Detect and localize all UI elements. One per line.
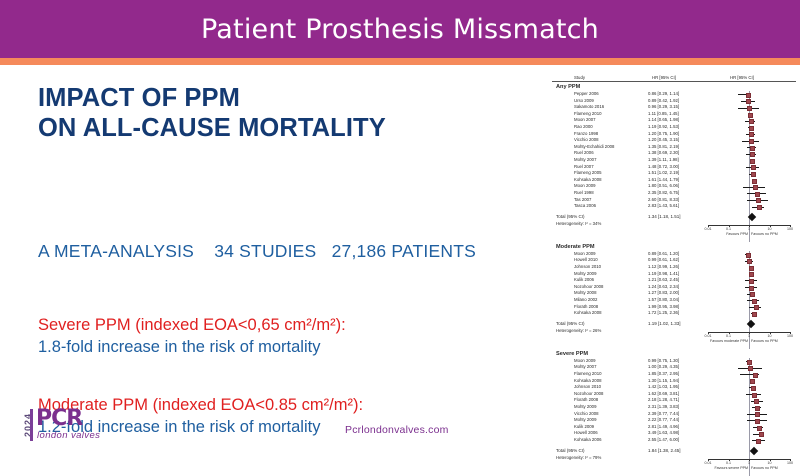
forest-row-study: Mohty 2009 — [574, 271, 596, 276]
forest-row-hr: 1.21 [0.63, 2.45] — [648, 277, 679, 282]
forest-row: Kulik 20092.81 [1.49, 4.96] — [552, 424, 796, 431]
forest-row-hr: 1.39 [1.11, 1.98] — [648, 157, 679, 162]
axis-favours-right-label: Favours no PPM — [751, 466, 778, 470]
forest-row-study: Kohsaka 2008 — [574, 310, 601, 315]
forest-row-hr: 1.27 [0.83, 2.00] — [648, 290, 679, 295]
severe-ppm-body: 1.8-fold increase in the risk of mortali… — [38, 336, 538, 358]
forest-row: Nozohoor 20081.24 [0.63, 2.34] — [552, 284, 796, 291]
forest-row-study: Mohty 2009 — [574, 417, 596, 422]
forest-row-hr: 1.72 [1.25, 2.36] — [648, 310, 679, 315]
forest-row-study: Howell 2010 — [574, 257, 598, 262]
forest-row-study: Mohty-Echahidi 2008 — [574, 144, 614, 149]
forest-total-label: Total (95% CI) — [556, 214, 585, 219]
forest-row-study: Pepper 2006 — [574, 91, 599, 96]
forest-row: Tas 20072.60 [0.81, 8.33] — [552, 197, 796, 204]
forest-row-hr: 1.57 [0.80, 3.04] — [648, 297, 679, 302]
forest-row: Rao 20001.19 [0.92, 1.53] — [552, 124, 796, 131]
forest-row-study: Mohty 2009 — [574, 404, 596, 409]
axis-favours-left-label: Favours moderate PPM — [710, 339, 748, 343]
axis-favours-right-label: Favours no PPM — [751, 339, 778, 343]
forest-row: Mohty-Echahidi 20081.35 [0.81, 2.19] — [552, 144, 796, 151]
forest-row: Flameng 20101.85 [0.37, 2.95] — [552, 371, 796, 378]
forest-row: Johnson 20101.12 [0.99, 1.26] — [552, 264, 796, 271]
logo-divider — [30, 409, 33, 441]
axis-favours-left-label: Favours PPM — [726, 232, 748, 236]
forest-plot: Study HR [95% CI] HR [95% CI] Any PPM0.0… — [552, 70, 796, 448]
forest-row-study: Tas 2007 — [574, 197, 591, 202]
forest-row-hr: 1.51 [1.02, 2.19] — [648, 170, 679, 175]
forest-row-study: Johnson 2010 — [574, 384, 601, 389]
axis-favours-left-label: Favours severe PPM — [714, 466, 748, 470]
forest-row-study: Flameng 2010 — [574, 111, 601, 116]
forest-row-hr: 2.60 [0.81, 8.33] — [648, 197, 679, 202]
forest-row-study: Florath 2008 — [574, 304, 598, 309]
forest-row: Moon 20071.14 [0.65, 1.98] — [552, 117, 796, 124]
slide: Patient Prosthesis Missmatch IMPACT OF P… — [0, 0, 800, 450]
forest-plot-header: Study HR [95% CI] HR [95% CI] — [552, 70, 796, 82]
forest-row: Urso 20090.89 [0.42, 1.92] — [552, 98, 796, 105]
forest-row-hr: 1.38 [0.69, 2.30] — [648, 150, 679, 155]
forest-total-row: Total (95% CI)1.19 [1.02, 1.33] — [552, 321, 796, 329]
forest-row: Franzo 19981.20 [0.75, 1.90] — [552, 131, 796, 138]
forest-total-value: 1.19 [1.02, 1.33] — [648, 321, 681, 326]
forest-row: Florath 20082.18 [1.28, 4.71] — [552, 397, 796, 404]
forest-row: Ruel 20071.48 [0.72, 3.00] — [552, 164, 796, 171]
forest-row: Flameng 20101.11 [0.85, 1.45] — [552, 111, 796, 118]
severe-ppm-block: Severe PPM (indexed EOA<0,65 cm²/m²): 1.… — [38, 314, 538, 358]
column-header-hr-text: HR [95% CI] — [652, 75, 676, 80]
forest-row: Flameng 20051.51 [1.02, 2.19] — [552, 170, 796, 177]
forest-row-hr: 1.30 [1.15, 1.94] — [648, 378, 679, 383]
forest-group: Any PPM0.010.1110100Favours PPMFavours n… — [552, 84, 796, 242]
forest-row-hr: 1.20 [0.45, 3.15] — [648, 137, 679, 142]
forest-row-hr: 3.49 [1.63, 4.98] — [648, 430, 679, 435]
forest-row-hr: 1.24 [0.63, 2.34] — [648, 284, 679, 289]
forest-row-study: Mohty 2007 — [574, 364, 596, 369]
forest-row: Kohsaka 20081.72 [1.25, 2.36] — [552, 310, 796, 317]
forest-row-study: Howell 2006 — [574, 430, 598, 435]
forest-row-hr: 2.81 [1.49, 4.96] — [648, 424, 679, 429]
forest-row-hr: 0.99 [0.61, 1.62] — [648, 257, 679, 262]
forest-row-study: Urso 2009 — [574, 98, 594, 103]
forest-group-label: Severe PPM — [556, 351, 796, 357]
subtitle: A META-ANALYSIS 34 STUDIES 27,186 PATIEN… — [38, 241, 538, 262]
forest-row: Milano 20021.57 [0.80, 3.04] — [552, 297, 796, 304]
forest-row-study: Ruel 2007 — [574, 164, 594, 169]
forest-row: Florath 20081.99 [0.95, 3.98] — [552, 304, 796, 311]
forest-row-hr: 1.85 [0.37, 2.95] — [648, 371, 679, 376]
forest-row-hr: 1.42 [1.03, 1.95] — [648, 384, 679, 389]
forest-total-value: 1.34 [1.18, 1.51] — [648, 214, 681, 219]
forest-row-study: Ruel 2006 — [574, 150, 594, 155]
forest-row-study: Moon 2009 — [574, 358, 596, 363]
forest-row-study: Mohty 2008 — [574, 290, 596, 295]
forest-plot-groups: Any PPM0.010.1110100Favours PPMFavours n… — [552, 84, 796, 476]
forest-row-hr: 1.48 [0.72, 3.00] — [648, 164, 679, 169]
forest-row-hr: 2.39 [0.77, 7.44] — [648, 411, 679, 416]
forest-row-study: Sakamoto 2016 — [574, 104, 604, 109]
forest-row-hr: 2.35 [0.82, 6.75] — [648, 190, 679, 195]
forest-heterogeneity-row: Heterogeneity: I² = 34% — [552, 221, 796, 228]
forest-row-hr: 0.89 [0.42, 1.92] — [648, 98, 679, 103]
column-header-study: Study — [574, 75, 585, 80]
forest-heterogeneity-label: Heterogeneity: I² = 34% — [556, 221, 601, 226]
forest-row-hr: 1.11 [0.85, 1.45] — [648, 111, 679, 116]
forest-row: Moon 20091.80 [0.51, 6.06] — [552, 183, 796, 190]
forest-row-study: Kohsaka 2006 — [574, 437, 601, 442]
forest-row-study: Moon 2009 — [574, 183, 596, 188]
forest-row-study: Kulik 2009 — [574, 424, 594, 429]
forest-group-rows: 0.010.1110100Favours moderate PPMFavours… — [552, 251, 796, 349]
forest-row: Vicchio 20081.20 [0.45, 3.15] — [552, 137, 796, 144]
pcr-london-valves-logo: 2024 PCR london valves — [14, 406, 154, 444]
forest-row-study: Flameng 2005 — [574, 170, 601, 175]
forest-row-study: Milano 2002 — [574, 297, 597, 302]
forest-total-label: Total (95% CI) — [556, 321, 585, 326]
footer-url: Pcrlondonvalves.com — [345, 424, 449, 436]
forest-row-hr: 1.19 [0.98, 1.41] — [648, 271, 679, 276]
forest-row: Mohty 20091.19 [0.98, 1.41] — [552, 271, 796, 278]
forest-row: Moon 20090.99 [0.75, 1.30] — [552, 358, 796, 365]
logo-subtitle: london valves — [37, 430, 100, 441]
forest-row-study: Nozohoor 2008 — [574, 391, 603, 396]
forest-row: Ruel 19982.35 [0.82, 6.75] — [552, 190, 796, 197]
forest-row-study: Kohsaka 2008 — [574, 177, 601, 182]
forest-row-hr: 1.00 [0.29, 4.35] — [648, 364, 679, 369]
forest-total-row: Total (95% CI)1.34 [1.18, 1.51] — [552, 214, 796, 222]
forest-row-study: Franzo 1998 — [574, 131, 598, 136]
forest-row: Mohty 20071.00 [0.29, 4.35] — [552, 364, 796, 371]
forest-row: Kohsaka 20081.30 [1.15, 1.94] — [552, 378, 796, 385]
forest-row: Mohty 20071.39 [1.11, 1.98] — [552, 157, 796, 164]
forest-total-value: 1.84 [1.38, 2.45] — [648, 448, 681, 453]
forest-row: Kohsaka 20062.55 [1.47, 6.00] — [552, 437, 796, 444]
forest-row-study: Mohty 2007 — [574, 157, 596, 162]
forest-heterogeneity-row: Heterogeneity: I² = 26% — [552, 328, 796, 335]
forest-row-hr: 1.14 [0.65, 1.98] — [648, 117, 679, 122]
content-left: IMPACT OF PPM ON ALL-CAUSE MORTALITY A M… — [0, 65, 545, 450]
forest-row-study: Moon 2007 — [574, 117, 596, 122]
forest-row: Mohty 20092.22 [0.77, 7.44] — [552, 417, 796, 424]
forest-row-hr: 1.20 [0.75, 1.90] — [648, 131, 679, 136]
forest-row: Nozohoor 20081.62 [0.69, 3.81] — [552, 391, 796, 398]
headline-line-1: IMPACT OF PPM — [38, 84, 240, 112]
forest-row: Mohty 20092.31 [1.39, 3.83] — [552, 404, 796, 411]
headline: IMPACT OF PPM ON ALL-CAUSE MORTALITY — [38, 83, 538, 143]
forest-row-hr: 2.31 [1.39, 3.83] — [648, 404, 679, 409]
forest-row-study: Vicchio 2008 — [574, 411, 599, 416]
forest-row: Kulik 20061.21 [0.63, 2.45] — [552, 277, 796, 284]
forest-row-hr: 1.80 [0.51, 6.06] — [648, 183, 679, 188]
forest-row: Vicchio 20082.39 [0.77, 7.44] — [552, 411, 796, 418]
forest-group-rows: 0.010.1110100Favours PPMFavours no PPMPe… — [552, 91, 796, 242]
forest-row-study: Moon 2009 — [574, 251, 596, 256]
forest-row: Sakamoto 20160.96 [0.29, 3.15] — [552, 104, 796, 111]
column-header-hr-plot: HR [95% CI] — [730, 75, 754, 80]
forest-row-hr: 2.83 [1.43, 5.61] — [648, 203, 679, 208]
forest-group-label: Any PPM — [556, 84, 796, 90]
forest-row: Johnson 20101.42 [1.03, 1.95] — [552, 384, 796, 391]
header-accent-rule — [0, 58, 800, 65]
forest-row-hr: 2.18 [1.28, 4.71] — [648, 397, 679, 402]
forest-row: Howell 20100.99 [0.61, 1.62] — [552, 257, 796, 264]
forest-row-hr: 0.89 [0.61, 1.20] — [648, 251, 679, 256]
forest-row-hr: 1.35 [0.81, 2.19] — [648, 144, 679, 149]
forest-row-study: Ruel 1998 — [574, 190, 594, 195]
forest-row-study: Kulik 2006 — [574, 277, 594, 282]
forest-row: Moon 20090.89 [0.61, 1.20] — [552, 251, 796, 258]
forest-row-hr: 0.86 [0.29, 1.14] — [648, 91, 679, 96]
forest-row: Howell 20063.49 [1.63, 4.98] — [552, 430, 796, 437]
forest-row-study: Florath 2008 — [574, 397, 598, 402]
forest-heterogeneity-label: Heterogeneity: I² = 26% — [556, 328, 601, 333]
forest-row-hr: 1.99 [0.95, 3.98] — [648, 304, 679, 309]
forest-row: Pepper 20060.86 [0.29, 1.14] — [552, 91, 796, 98]
forest-row-study: Johnson 2010 — [574, 264, 601, 269]
forest-heterogeneity-label: Heterogeneity: I² = 79% — [556, 455, 601, 460]
forest-row-hr: 1.62 [0.69, 3.81] — [648, 391, 679, 396]
headline-line-2: ON ALL-CAUSE MORTALITY — [38, 113, 538, 143]
forest-row: Mohty 20081.27 [0.83, 2.00] — [552, 290, 796, 297]
forest-group: Moderate PPM0.010.1110100Favours moderat… — [552, 244, 796, 349]
forest-row-study: Tasca 2006 — [574, 203, 596, 208]
forest-row-study: Vicchio 2008 — [574, 137, 599, 142]
forest-group: Severe PPM0.010.1110100Favours severe PP… — [552, 351, 796, 476]
forest-row-hr: 0.96 [0.29, 3.15] — [648, 104, 679, 109]
forest-row: Tasca 20062.83 [1.43, 5.61] — [552, 203, 796, 210]
axis-favours-right-label: Favours no PPM — [751, 232, 778, 236]
forest-row: Kohsaka 20081.61 [1.44, 1.79] — [552, 177, 796, 184]
forest-row-study: Rao 2000 — [574, 124, 593, 129]
forest-row-hr: 1.19 [0.92, 1.53] — [648, 124, 679, 129]
forest-heterogeneity-row: Heterogeneity: I² = 79% — [552, 455, 796, 462]
forest-row-hr: 2.55 [1.47, 6.00] — [648, 437, 679, 442]
page-title: Patient Prosthesis Missmatch — [0, 0, 800, 58]
severe-ppm-heading: Severe PPM (indexed EOA<0,65 cm²/m²): — [38, 314, 538, 336]
forest-row-study: Kohsaka 2008 — [574, 378, 601, 383]
forest-row-hr: 1.61 [1.44, 1.79] — [648, 177, 679, 182]
forest-row-hr: 2.22 [0.77, 7.44] — [648, 417, 679, 422]
forest-total-row: Total (95% CI)1.84 [1.38, 2.45] — [552, 448, 796, 456]
forest-row-study: Nozohoor 2008 — [574, 284, 603, 289]
logo-wordmark: PCR — [36, 406, 82, 431]
forest-row-hr: 1.12 [0.99, 1.26] — [648, 264, 679, 269]
forest-group-label: Moderate PPM — [556, 244, 796, 250]
forest-total-label: Total (95% CI) — [556, 448, 585, 453]
forest-row: Ruel 20061.38 [0.69, 2.30] — [552, 150, 796, 157]
forest-group-rows: 0.010.1110100Favours severe PPMFavours n… — [552, 358, 796, 476]
forest-row-study: Flameng 2010 — [574, 371, 601, 376]
forest-row-hr: 0.99 [0.75, 1.30] — [648, 358, 679, 363]
